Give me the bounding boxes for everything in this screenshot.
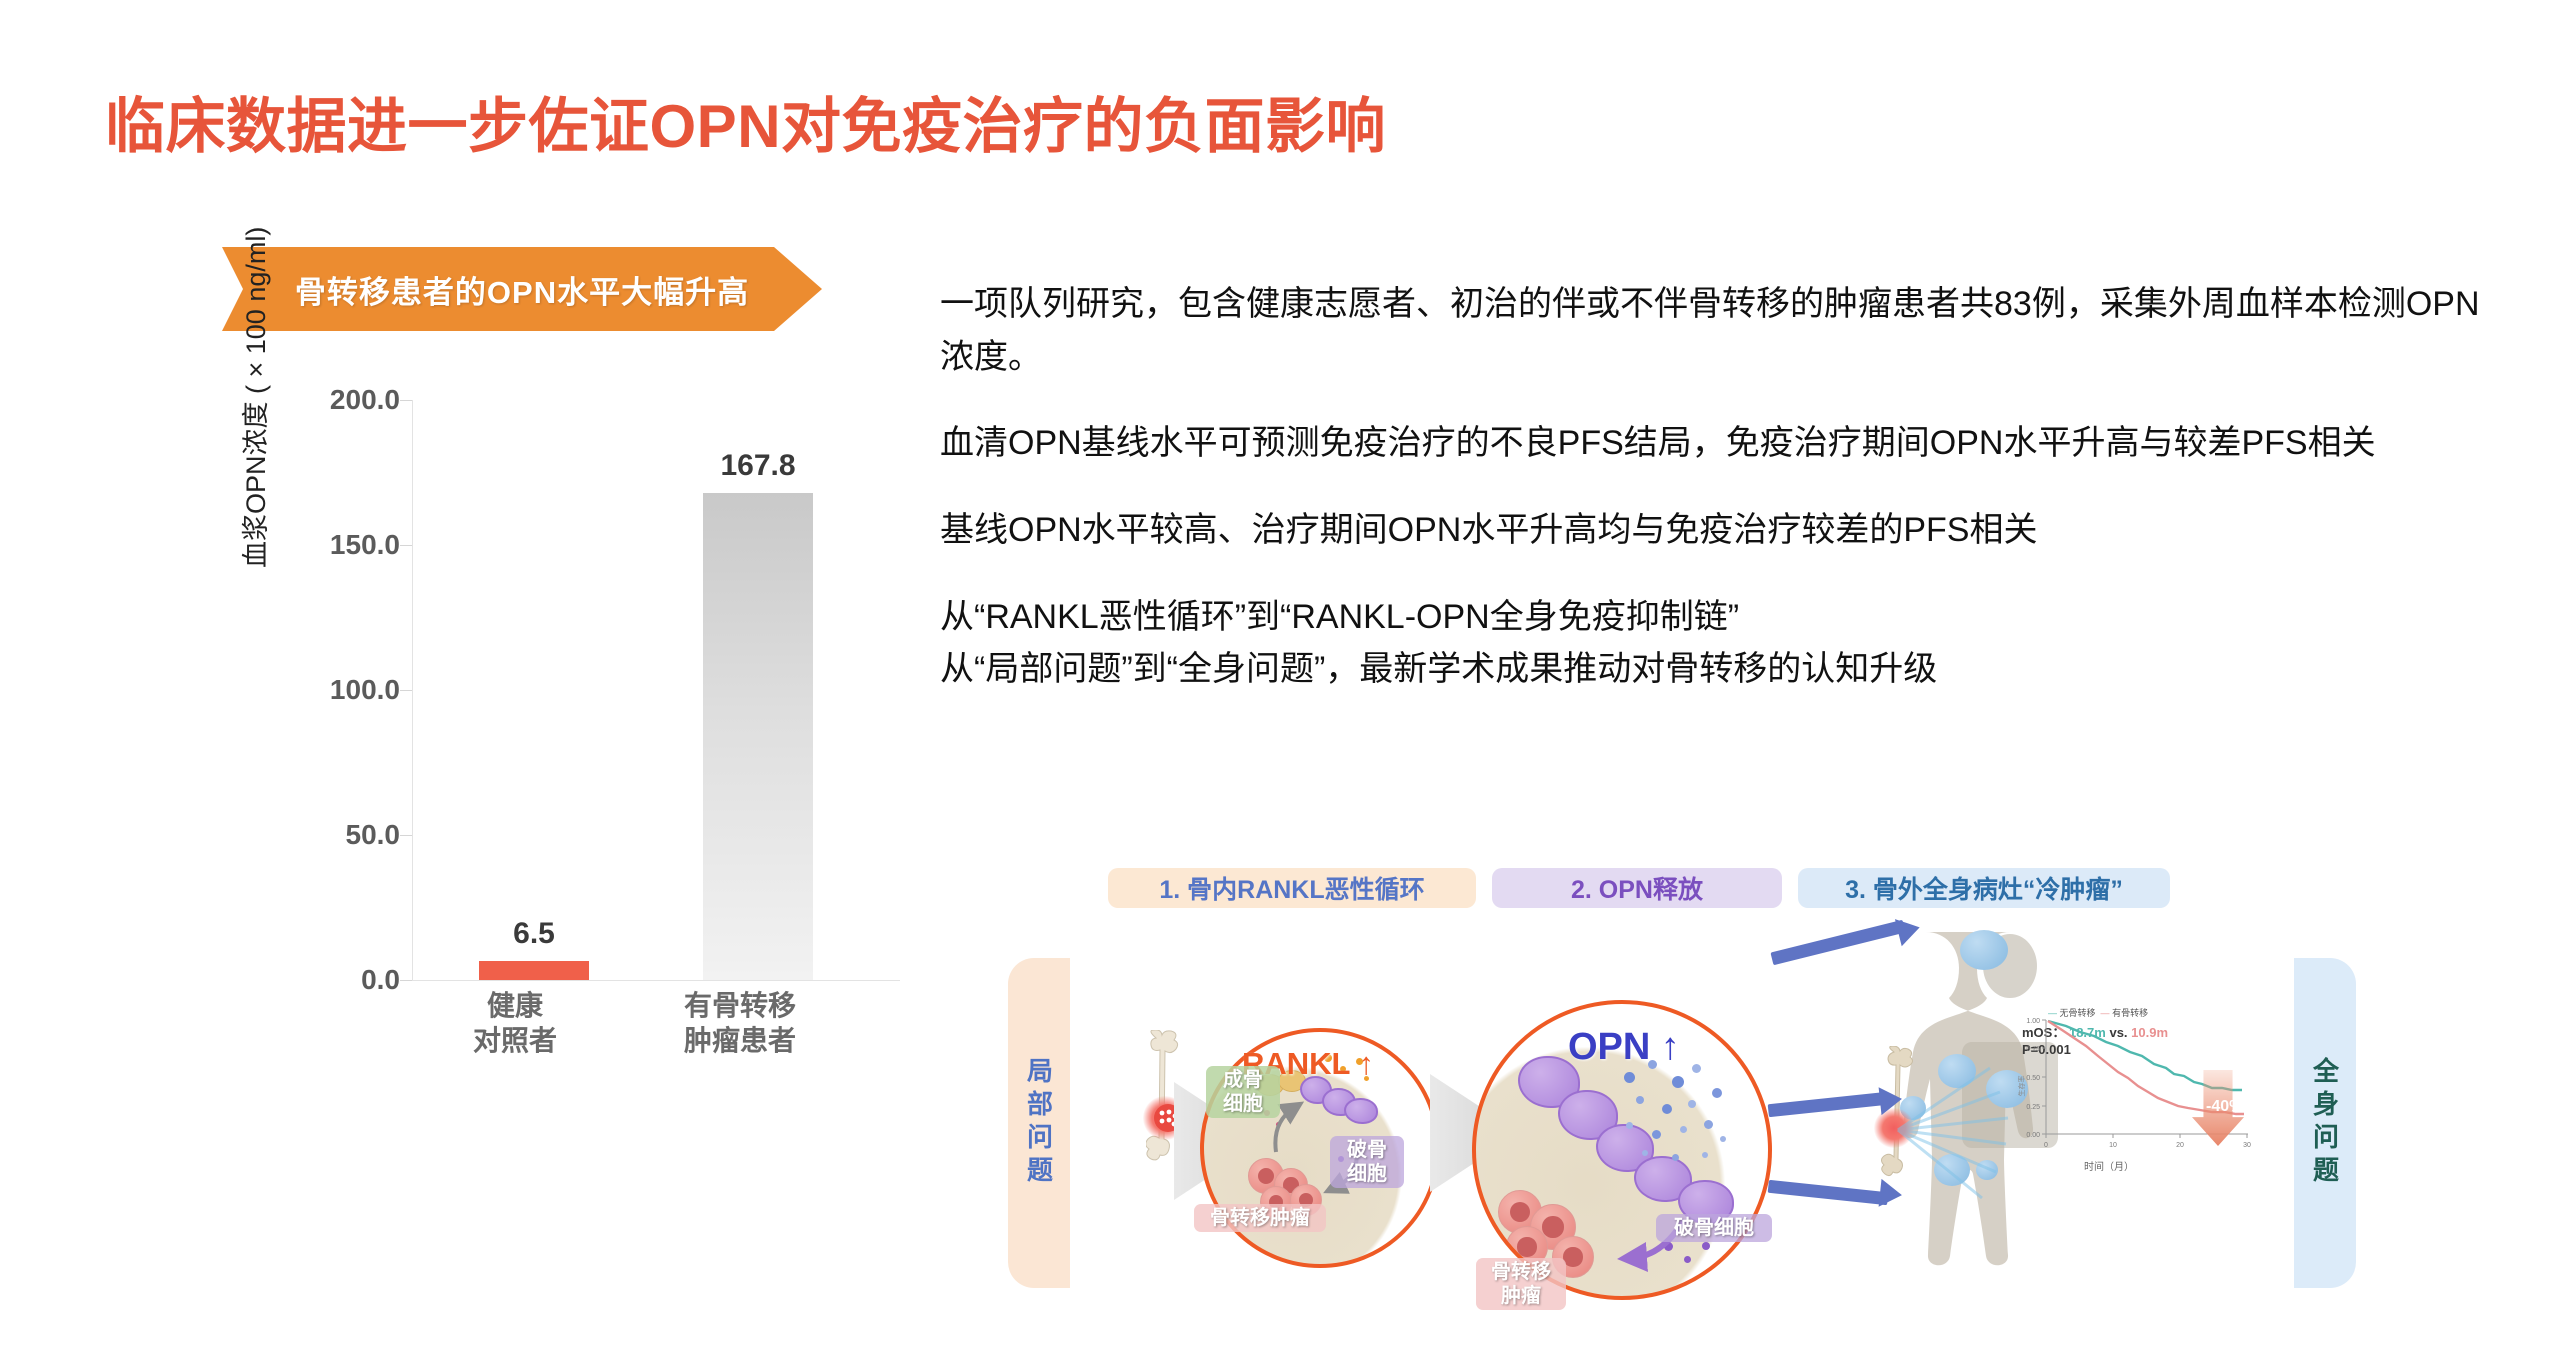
svg-text:0.25: 0.25 [2026, 1104, 2040, 1111]
diagram-pill-stage-3-label: 3. 骨外全身病灶“冷肿瘤” [1845, 870, 2123, 906]
svg-text:生存率: 生存率 [2017, 1076, 2026, 1097]
chart-bar-bone-metastasis[interactable]: 167.8 [703, 493, 813, 980]
chart-tickmark-100 [400, 690, 412, 691]
chart-xlabel-bone-metastasis-line2: 肿瘤患者 [640, 1023, 840, 1058]
body-text-block: 一项队列研究，包含健康志愿者、初治的伴或不伴骨转移的肿瘤患者共83例，采集外周血… [940, 278, 2510, 696]
survival-drop-annotation: -40% [2206, 1098, 2243, 1116]
section-banner-bone-metastasis: 骨转移患者的OPN水平大幅升高 [222, 247, 822, 331]
chart-xlabel-healthy-control-line2: 对照者 [430, 1023, 600, 1058]
body-paragraph-1: 一项队列研究，包含健康志愿者、初治的伴或不伴骨转移的肿瘤患者共83例，采集外周血… [940, 278, 2510, 383]
survival-mini-chart: — 无骨转移 — 有骨转移 mOS： 18.7m vs. 10.9m P=0.0… [2006, 1006, 2256, 1176]
chart-ytick-0: 0.0 [250, 964, 400, 996]
chart-tickmark-50 [400, 835, 412, 836]
svg-text:30: 30 [2243, 1142, 2251, 1149]
section-banner-label: 骨转移患者的OPN水平大幅升高 [295, 267, 749, 312]
svg-text:0.00: 0.00 [2026, 1132, 2040, 1139]
body-paragraph-3: 基线OPN水平较高、治疗期间OPN水平升高均与免疫治疗较差的PFS相关 [940, 504, 2510, 557]
opn-bar-chart: 血浆OPN浓度 ( × 100 ng/ml) 0.0 50.0 100.0 15… [240, 400, 900, 1080]
body-paragraph-5: 从“局部问题”到“全身问题”，最新学术成果推动对骨转移的认知升级 [940, 643, 2510, 696]
diagram-pill-stage-1: 1. 骨内RANKL恶性循环 [1108, 868, 1476, 908]
stage-1-osteoclast-label: 破骨细胞 [1330, 1136, 1404, 1188]
svg-text:20: 20 [2176, 1142, 2184, 1149]
chart-xlabel-bone-metastasis: 有骨转移 肿瘤患者 [640, 988, 840, 1058]
chart-xlabel-healthy-control: 健康 对照者 [430, 988, 600, 1058]
svg-text:1.00: 1.00 [2026, 1018, 2040, 1025]
chart-ytick-200: 200.0 [250, 384, 400, 416]
svg-text:0.50: 0.50 [2026, 1075, 2040, 1082]
brain-metastasis-tumor [1960, 930, 2008, 970]
svg-text:10: 10 [2109, 1142, 2117, 1149]
svg-text:0: 0 [2044, 1142, 2048, 1149]
diagram-pill-stage-1-label: 1. 骨内RANKL恶性循环 [1159, 870, 1424, 906]
diagram-pill-stage-3: 3. 骨外全身病灶“冷肿瘤” [1798, 868, 2170, 908]
body-paragraph-4: 从“RANKL恶性循环”到“RANKL-OPN全身免疫抑制链” [940, 591, 2510, 644]
chart-tickmark-200 [400, 400, 412, 401]
spread-arrow-to-abdomen-head [1879, 1179, 1904, 1209]
chart-bar-label-bone-metastasis: 167.8 [720, 449, 795, 483]
slide-root: 临床数据进一步佐证OPN对免疫治疗的负面影响 骨转移患者的OPN水平大幅升高 血… [0, 0, 2560, 1347]
stage-1-osteoblast-label: 成骨细胞 [1206, 1066, 1280, 1118]
diagram-pill-stage-2: 2. OPN释放 [1492, 868, 1782, 908]
chart-bar-label-healthy-control: 6.5 [513, 917, 555, 951]
chart-ytick-150: 150.0 [250, 529, 400, 561]
spread-arrow-to-chest-head [1879, 1085, 1904, 1115]
stage-2-osteoclast-label: 破骨细胞 [1656, 1214, 1772, 1242]
stage-2-opn-label: OPN ↑ [1568, 1026, 1680, 1069]
diagram-side-panel-systemic: 全身问题 [2294, 958, 2356, 1288]
chart-tickmark-150 [400, 545, 412, 546]
svg-text:0.75: 0.75 [2026, 1046, 2040, 1053]
chart-xlabel-bone-metastasis-line1: 有骨转移 [640, 988, 840, 1023]
stage-1-tumor-label: 骨转移肿瘤 [1194, 1204, 1326, 1232]
diagram-pill-stage-2-label: 2. OPN释放 [1571, 870, 1703, 906]
chart-plot-area: 6.5 167.8 [412, 400, 900, 981]
chart-ytick-50: 50.0 [250, 819, 400, 851]
page-title: 临床数据进一步佐证OPN对免疫治疗的负面影响 [105, 78, 1386, 165]
chart-ytick-100: 100.0 [250, 674, 400, 706]
survival-x-axis-label: 时间（月） [2084, 1158, 2134, 1173]
diagram-side-panel-local: 局部问题 [1008, 958, 1070, 1288]
chart-bar-healthy-control[interactable]: 6.5 [479, 961, 589, 980]
mechanism-diagram: 1. 骨内RANKL恶性循环 2. OPN释放 3. 骨外全身病灶“冷肿瘤” 局… [1000, 868, 2420, 1308]
chart-xlabel-healthy-control-line1: 健康 [430, 988, 600, 1023]
chart-tickmark-0 [400, 980, 412, 981]
stage-2-tumor-label: 骨转移肿瘤 [1476, 1258, 1566, 1310]
body-paragraph-2: 血清OPN基线水平可预测免疫治疗的不良PFS结局，免疫治疗期间OPN水平升高与较… [940, 417, 2510, 470]
